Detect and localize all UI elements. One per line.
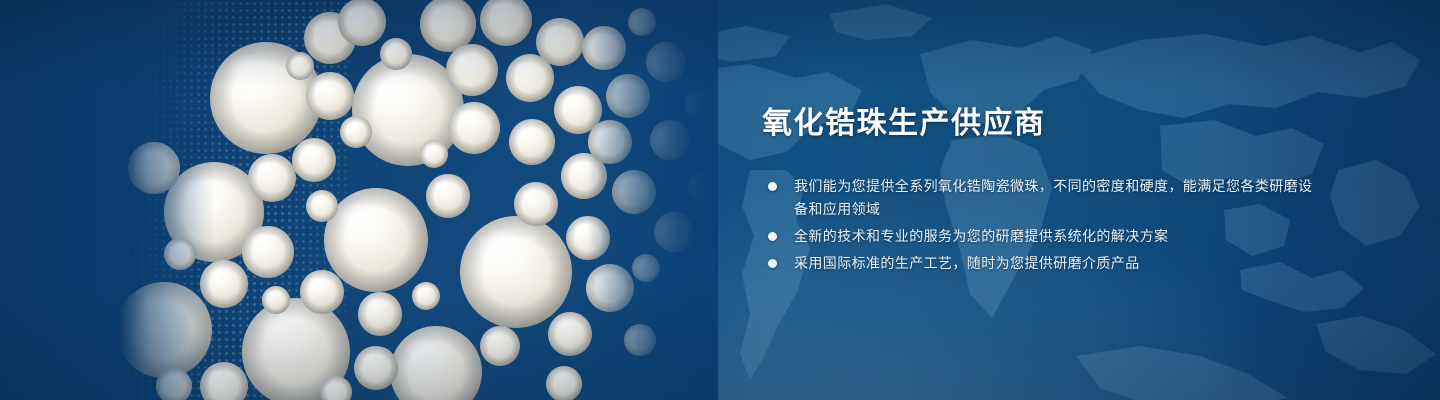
bullet-item: 我们能为您提供全系列氧化锆陶瓷微珠，不同的密度和硬度，能满足您各类研磨设备和应用… bbox=[762, 175, 1322, 221]
banner-bullet-list: 我们能为您提供全系列氧化锆陶瓷微珠，不同的密度和硬度，能满足您各类研磨设备和应用… bbox=[762, 175, 1322, 275]
bullet-item: 采用国际标准的生产工艺，随时为您提供研磨介质产品 bbox=[762, 252, 1322, 275]
hero-banner: 氧化锆珠生产供应商 我们能为您提供全系列氧化锆陶瓷微珠，不同的密度和硬度，能满足… bbox=[0, 0, 1440, 400]
bullet-text: 全新的技术和专业的服务为您的研磨提供系统化的解决方案 bbox=[794, 228, 1168, 244]
banner-headline: 氧化锆珠生产供应商 bbox=[762, 104, 1322, 144]
bullet-text: 采用国际标准的生产工艺，随时为您提供研磨介质产品 bbox=[794, 255, 1140, 271]
bullet-item: 全新的技术和专业的服务为您的研磨提供系统化的解决方案 bbox=[762, 225, 1322, 248]
bullet-dot-icon bbox=[768, 182, 777, 191]
bullet-text: 我们能为您提供全系列氧化锆陶瓷微珠，不同的密度和硬度，能满足您各类研磨设备和应用… bbox=[794, 178, 1312, 217]
bullet-dot-icon bbox=[768, 259, 777, 268]
bullet-dot-icon bbox=[768, 232, 777, 241]
banner-copy: 氧化锆珠生产供应商 我们能为您提供全系列氧化锆陶瓷微珠，不同的密度和硬度，能满足… bbox=[762, 104, 1322, 275]
